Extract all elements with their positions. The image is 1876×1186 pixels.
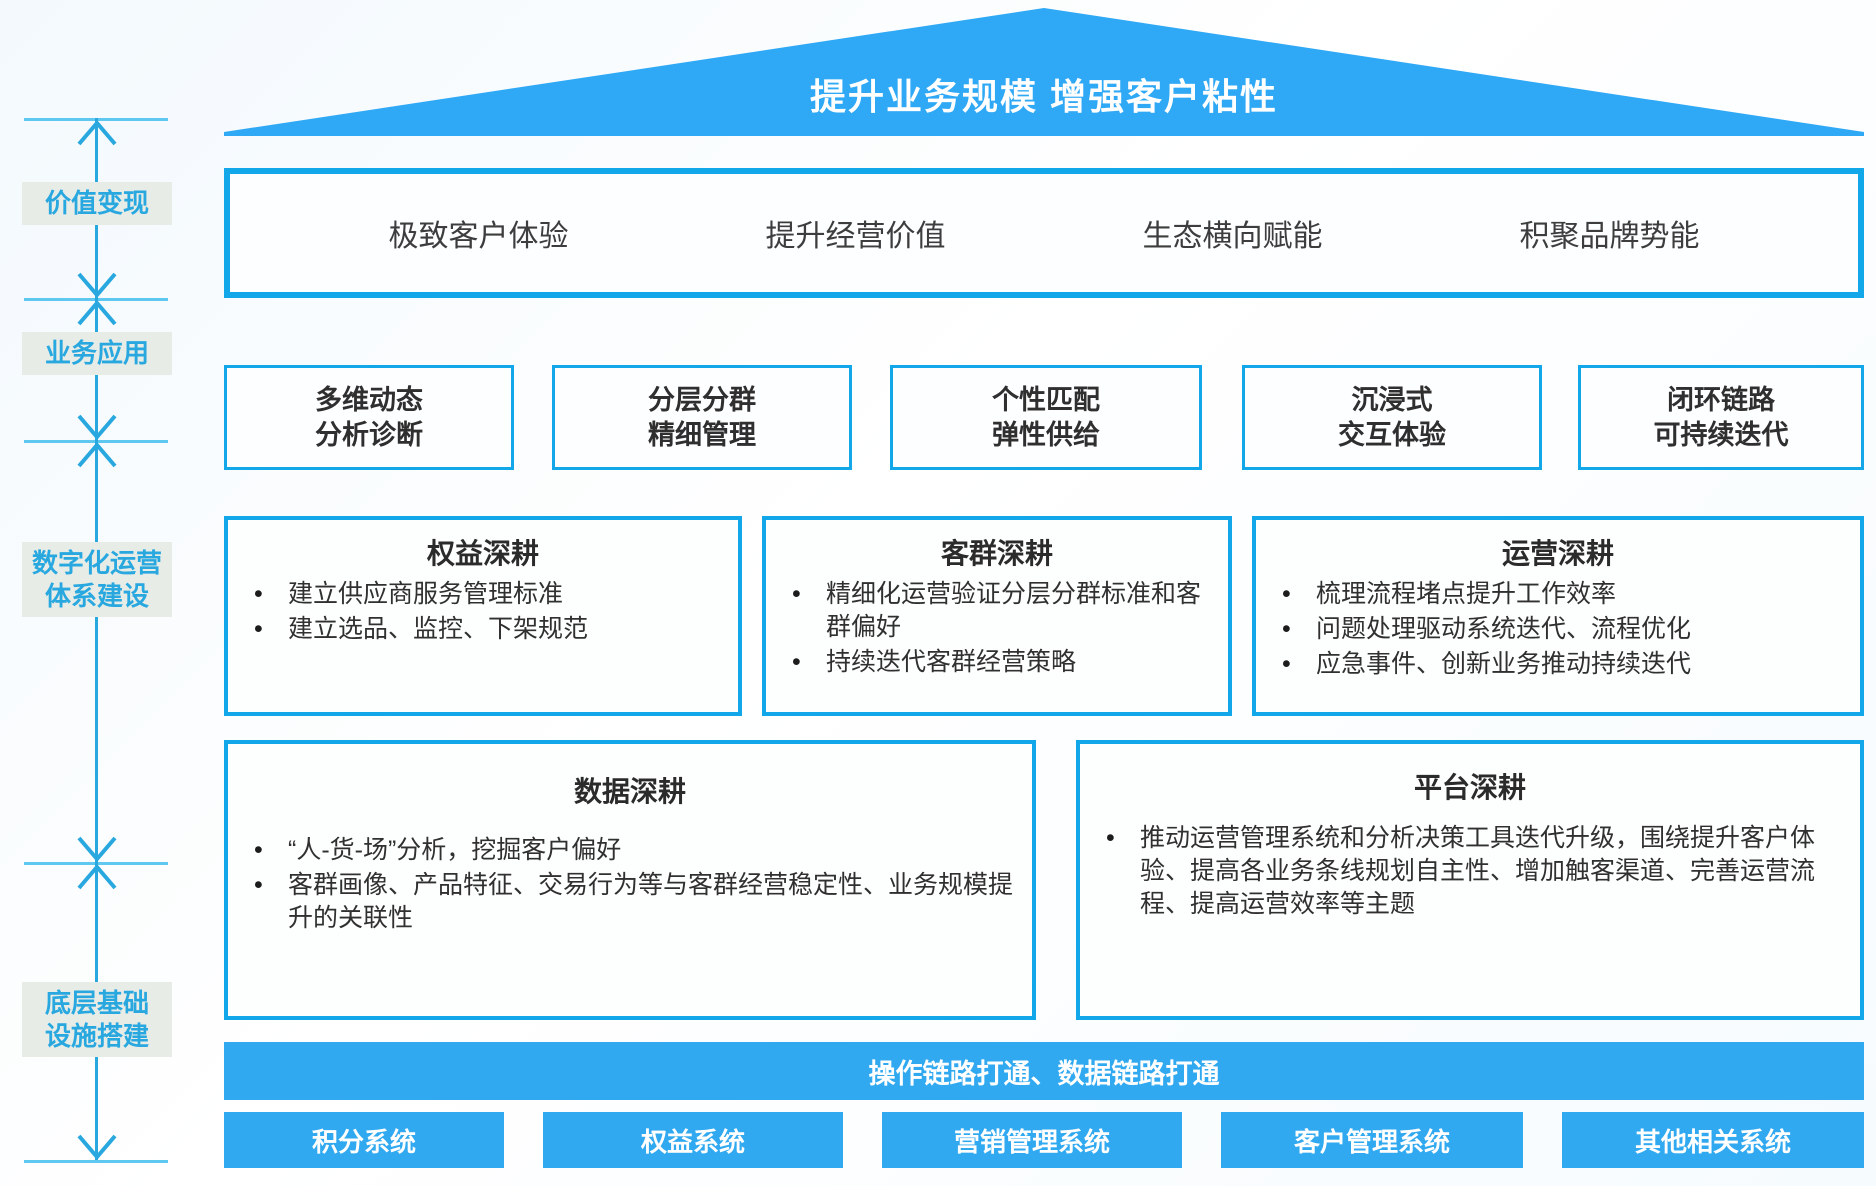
value-item-1: 提升经营价值 bbox=[766, 211, 946, 255]
bullet-dot-icon: • bbox=[1282, 648, 1316, 681]
bullet-dot-icon: • bbox=[254, 869, 288, 902]
system-box-marketing-label: 营销管理系统 bbox=[954, 1122, 1110, 1159]
arrow-up-icon-2 bbox=[76, 300, 118, 326]
arrow-up-icon-3 bbox=[76, 442, 118, 468]
foundation-systems-row: 积分系统 权益系统 营销管理系统 客户管理系统 其他相关系统 bbox=[224, 1112, 1864, 1168]
application-box-4: 闭环链路 可持续迭代 bbox=[1578, 365, 1864, 470]
arrow-down-icon-3 bbox=[76, 836, 118, 862]
deep-box-rights-bullets: • 建立供应商服务管理标准 • 建立选品、监控、下架规范 bbox=[228, 578, 738, 648]
bullet-dot-icon: • bbox=[254, 578, 288, 611]
list-item: • “人-货-场”分析，挖掘客户偏好 bbox=[254, 834, 1018, 867]
bullet-text: 客群画像、产品特征、交易行为等与客群经营稳定性、业务规模提升的关联性 bbox=[288, 869, 1018, 935]
deep-box-customer-group: 客群深耕 • 精细化运营验证分层分群标准和客群偏好 • 持续迭代客群经营策略 bbox=[762, 516, 1232, 716]
stage-axis: 价值变现 业务应用 数字化运营 体系建设 底层基础 设施搭建 bbox=[16, 110, 176, 1170]
deep-box-data: 数据深耕 • “人-货-场”分析，挖掘客户偏好 • 客群画像、产品特征、交易行为… bbox=[224, 740, 1036, 1020]
list-item: • 推动运营管理系统和分析决策工具迭代升级，围绕提升客户体验、提高各业务条线规划… bbox=[1106, 822, 1846, 921]
application-box-3: 沉浸式 交互体验 bbox=[1242, 365, 1542, 470]
deep-box-data-bullets: • “人-货-场”分析，挖掘客户偏好 • 客群画像、产品特征、交易行为等与客群经… bbox=[228, 834, 1032, 937]
value-realization-row: 极致客户体验 提升经营价值 生态横向赋能 积聚品牌势能 bbox=[224, 168, 1864, 298]
bullet-text: 精细化运营验证分层分群标准和客群偏好 bbox=[826, 578, 1214, 644]
foundation-link-bar-label: 操作链路打通、数据链路打通 bbox=[869, 1052, 1220, 1091]
application-box-2-line2: 弹性供给 bbox=[992, 418, 1100, 453]
system-box-other-label: 其他相关系统 bbox=[1635, 1122, 1791, 1159]
axis-rule-5 bbox=[24, 1160, 168, 1163]
list-item: • 建立供应商服务管理标准 bbox=[254, 578, 724, 611]
application-box-4-line1: 闭环链路 bbox=[1667, 383, 1775, 418]
roof-triangle: 提升业务规模 增强客户粘性 bbox=[224, 8, 1864, 136]
deep-box-platform-bullets: • 推动运营管理系统和分析决策工具迭代升级，围绕提升客户体验、提高各业务条线规划… bbox=[1080, 822, 1860, 923]
arrow-up-icon-4 bbox=[76, 864, 118, 890]
bullet-text: 建立选品、监控、下架规范 bbox=[288, 613, 724, 646]
application-box-0: 多维动态 分析诊断 bbox=[224, 365, 514, 470]
deep-box-customer-group-bullets: • 精细化运营验证分层分群标准和客群偏好 • 持续迭代客群经营策略 bbox=[766, 578, 1228, 681]
deep-box-customer-group-title: 客群深耕 bbox=[766, 532, 1228, 572]
value-item-3: 积聚品牌势能 bbox=[1520, 211, 1700, 255]
application-box-3-line1: 沉浸式 bbox=[1352, 383, 1433, 418]
arrow-down-icon-2 bbox=[76, 414, 118, 440]
diagram-canvas: 提升业务规模 增强客户粘性 bbox=[0, 0, 1876, 1186]
bullet-dot-icon: • bbox=[792, 646, 826, 679]
system-box-points[interactable]: 积分系统 bbox=[224, 1112, 504, 1168]
application-box-3-line2: 交互体验 bbox=[1338, 418, 1446, 453]
bullet-dot-icon: • bbox=[254, 613, 288, 646]
system-box-rights-label: 权益系统 bbox=[641, 1122, 745, 1159]
application-box-1-line2: 精细管理 bbox=[648, 418, 756, 453]
deep-box-operation-title: 运营深耕 bbox=[1256, 532, 1860, 572]
system-box-customer-label: 客户管理系统 bbox=[1294, 1122, 1450, 1159]
deep-box-platform: 平台深耕 • 推动运营管理系统和分析决策工具迭代升级，围绕提升客户体验、提高各业… bbox=[1076, 740, 1864, 1020]
bullet-dot-icon: • bbox=[1282, 613, 1316, 646]
system-box-other[interactable]: 其他相关系统 bbox=[1562, 1112, 1864, 1168]
stage-label-application-text: 业务应用 bbox=[24, 337, 170, 370]
application-box-1: 分层分群 精细管理 bbox=[552, 365, 852, 470]
application-box-2-line1: 个性匹配 bbox=[992, 383, 1100, 418]
bullet-text: “人-货-场”分析，挖掘客户偏好 bbox=[288, 834, 1018, 867]
bullet-dot-icon: • bbox=[1106, 822, 1140, 855]
stage-label-digital-line1: 数字化运营 bbox=[24, 547, 170, 580]
stage-label-infra-line2: 设施搭建 bbox=[24, 1020, 170, 1053]
arrow-down-icon-1 bbox=[76, 272, 118, 298]
bullet-text: 持续迭代客群经营策略 bbox=[826, 646, 1214, 679]
bullet-text: 问题处理驱动系统迭代、流程优化 bbox=[1316, 613, 1846, 646]
application-box-0-line1: 多维动态 bbox=[315, 383, 423, 418]
list-item: • 精细化运营验证分层分群标准和客群偏好 bbox=[792, 578, 1214, 644]
bullet-text: 梳理流程堵点提升工作效率 bbox=[1316, 578, 1846, 611]
system-box-rights[interactable]: 权益系统 bbox=[543, 1112, 843, 1168]
foundation-link-bar: 操作链路打通、数据链路打通 bbox=[224, 1042, 1864, 1100]
stage-label-infra-line1: 底层基础 bbox=[24, 987, 170, 1020]
system-box-customer[interactable]: 客户管理系统 bbox=[1221, 1112, 1523, 1168]
deep-box-rights: 权益深耕 • 建立供应商服务管理标准 • 建立选品、监控、下架规范 bbox=[224, 516, 742, 716]
system-box-points-label: 积分系统 bbox=[312, 1122, 416, 1159]
application-box-4-line2: 可持续迭代 bbox=[1654, 418, 1789, 453]
application-box-1-line1: 分层分群 bbox=[648, 383, 756, 418]
stage-label-value-text: 价值变现 bbox=[24, 187, 170, 220]
list-item: • 应急事件、创新业务推动持续迭代 bbox=[1282, 648, 1846, 681]
bullet-dot-icon: • bbox=[792, 578, 826, 611]
value-item-2: 生态横向赋能 bbox=[1143, 211, 1323, 255]
bullet-text: 应急事件、创新业务推动持续迭代 bbox=[1316, 648, 1846, 681]
deep-box-operation-bullets: • 梳理流程堵点提升工作效率 • 问题处理驱动系统迭代、流程优化 • 应急事件、… bbox=[1256, 578, 1860, 683]
bullet-text: 推动运营管理系统和分析决策工具迭代升级，围绕提升客户体验、提高各业务条线规划自主… bbox=[1140, 822, 1846, 921]
deep-box-operation: 运营深耕 • 梳理流程堵点提升工作效率 • 问题处理驱动系统迭代、流程优化 • … bbox=[1252, 516, 1864, 716]
list-item: • 建立选品、监控、下架规范 bbox=[254, 613, 724, 646]
bullet-text: 建立供应商服务管理标准 bbox=[288, 578, 724, 611]
roof-title: 提升业务规模 增强客户粘性 bbox=[224, 8, 1864, 136]
list-item: • 客群画像、产品特征、交易行为等与客群经营稳定性、业务规模提升的关联性 bbox=[254, 869, 1018, 935]
deep-box-rights-title: 权益深耕 bbox=[228, 532, 738, 572]
deep-box-platform-title: 平台深耕 bbox=[1080, 766, 1860, 806]
arrow-down-icon-4 bbox=[76, 1134, 118, 1160]
bullet-dot-icon: • bbox=[1282, 578, 1316, 611]
stage-label-value: 价值变现 bbox=[22, 182, 172, 225]
bullet-dot-icon: • bbox=[254, 834, 288, 867]
stage-label-infra: 底层基础 设施搭建 bbox=[22, 982, 172, 1057]
value-item-0: 极致客户体验 bbox=[389, 211, 569, 255]
list-item: • 问题处理驱动系统迭代、流程优化 bbox=[1282, 613, 1846, 646]
axis-segment-digital bbox=[95, 440, 98, 862]
application-box-2: 个性匹配 弹性供给 bbox=[890, 365, 1202, 470]
system-box-marketing[interactable]: 营销管理系统 bbox=[882, 1112, 1182, 1168]
stage-label-digital: 数字化运营 体系建设 bbox=[22, 542, 172, 617]
arrow-up-icon-1 bbox=[76, 120, 118, 146]
list-item: • 持续迭代客群经营策略 bbox=[792, 646, 1214, 679]
application-box-0-line2: 分析诊断 bbox=[315, 418, 423, 453]
stage-label-application: 业务应用 bbox=[22, 332, 172, 375]
deep-box-data-title: 数据深耕 bbox=[228, 770, 1032, 810]
stage-label-digital-line2: 体系建设 bbox=[24, 580, 170, 613]
list-item: • 梳理流程堵点提升工作效率 bbox=[1282, 578, 1846, 611]
